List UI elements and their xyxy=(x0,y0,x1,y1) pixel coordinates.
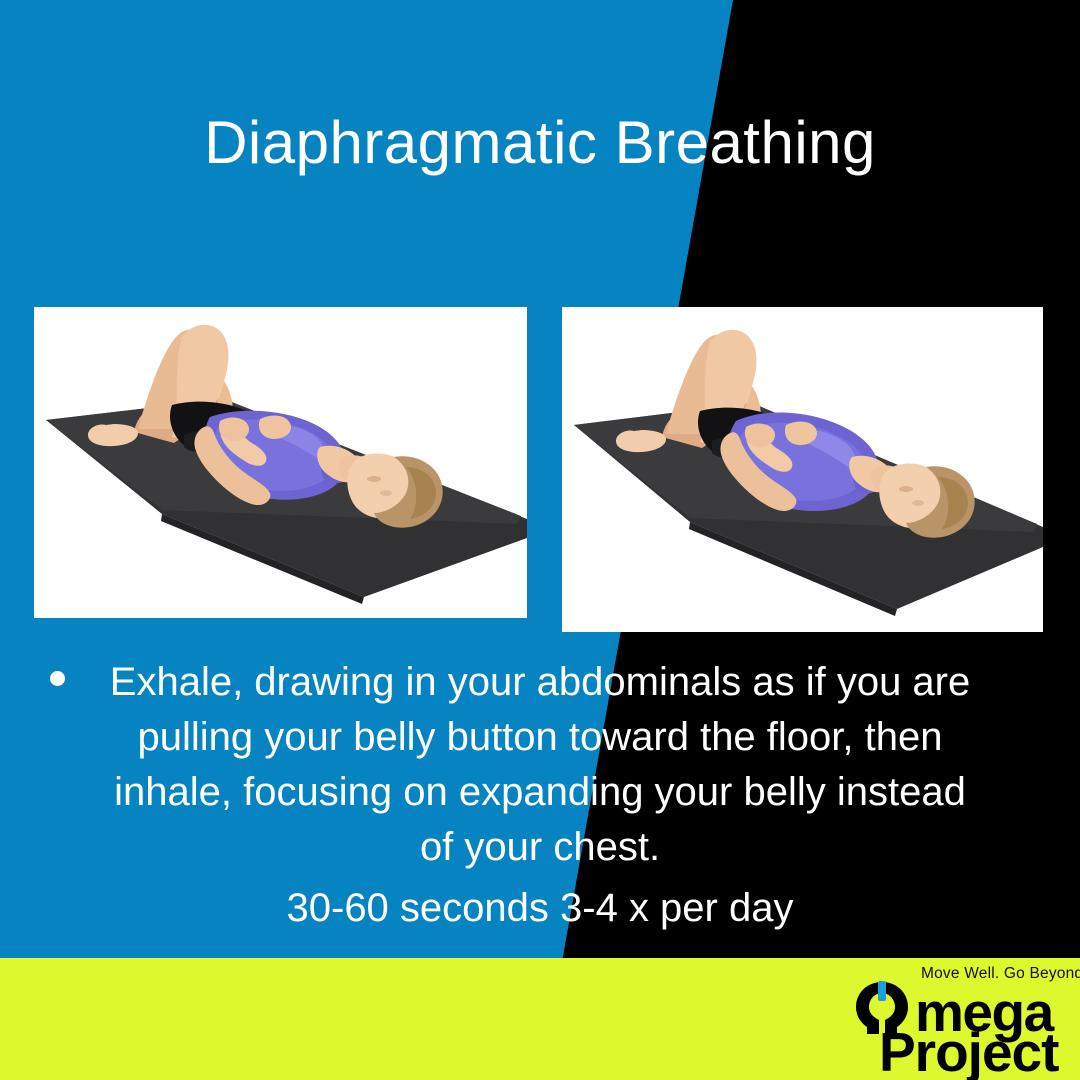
photo-scene-left xyxy=(34,307,527,618)
instruction-line-1: Exhale, drawing in your abdominals as if… xyxy=(60,655,1020,710)
dosage-text: 30-60 seconds 3-4 x per day xyxy=(60,875,1020,936)
poster-canvas: Diaphragmatic Breathing xyxy=(0,0,1080,1080)
brand-logo: Move Well. Go Beyond mega Project xyxy=(847,962,1062,1078)
exercise-photo-right xyxy=(562,307,1043,632)
instruction-line-3: inhale, focusing on expanding your belly… xyxy=(60,765,1020,820)
photo-scene-right xyxy=(562,307,1043,632)
bullet-point-icon xyxy=(50,671,65,686)
exercise-photo-left xyxy=(34,307,527,618)
page-title: Diaphragmatic Breathing xyxy=(0,110,1080,176)
instruction-line-2: pulling your belly button toward the flo… xyxy=(60,710,1020,765)
footer-bar: Move Well. Go Beyond mega Project xyxy=(0,958,1080,1080)
instruction-block: Exhale, drawing in your abdominals as if… xyxy=(0,655,1080,936)
instruction-text: Exhale, drawing in your abdominals as if… xyxy=(60,655,1020,875)
logo-word-project: Project xyxy=(879,1026,1058,1078)
instruction-line-4: of your chest. xyxy=(60,820,1020,875)
